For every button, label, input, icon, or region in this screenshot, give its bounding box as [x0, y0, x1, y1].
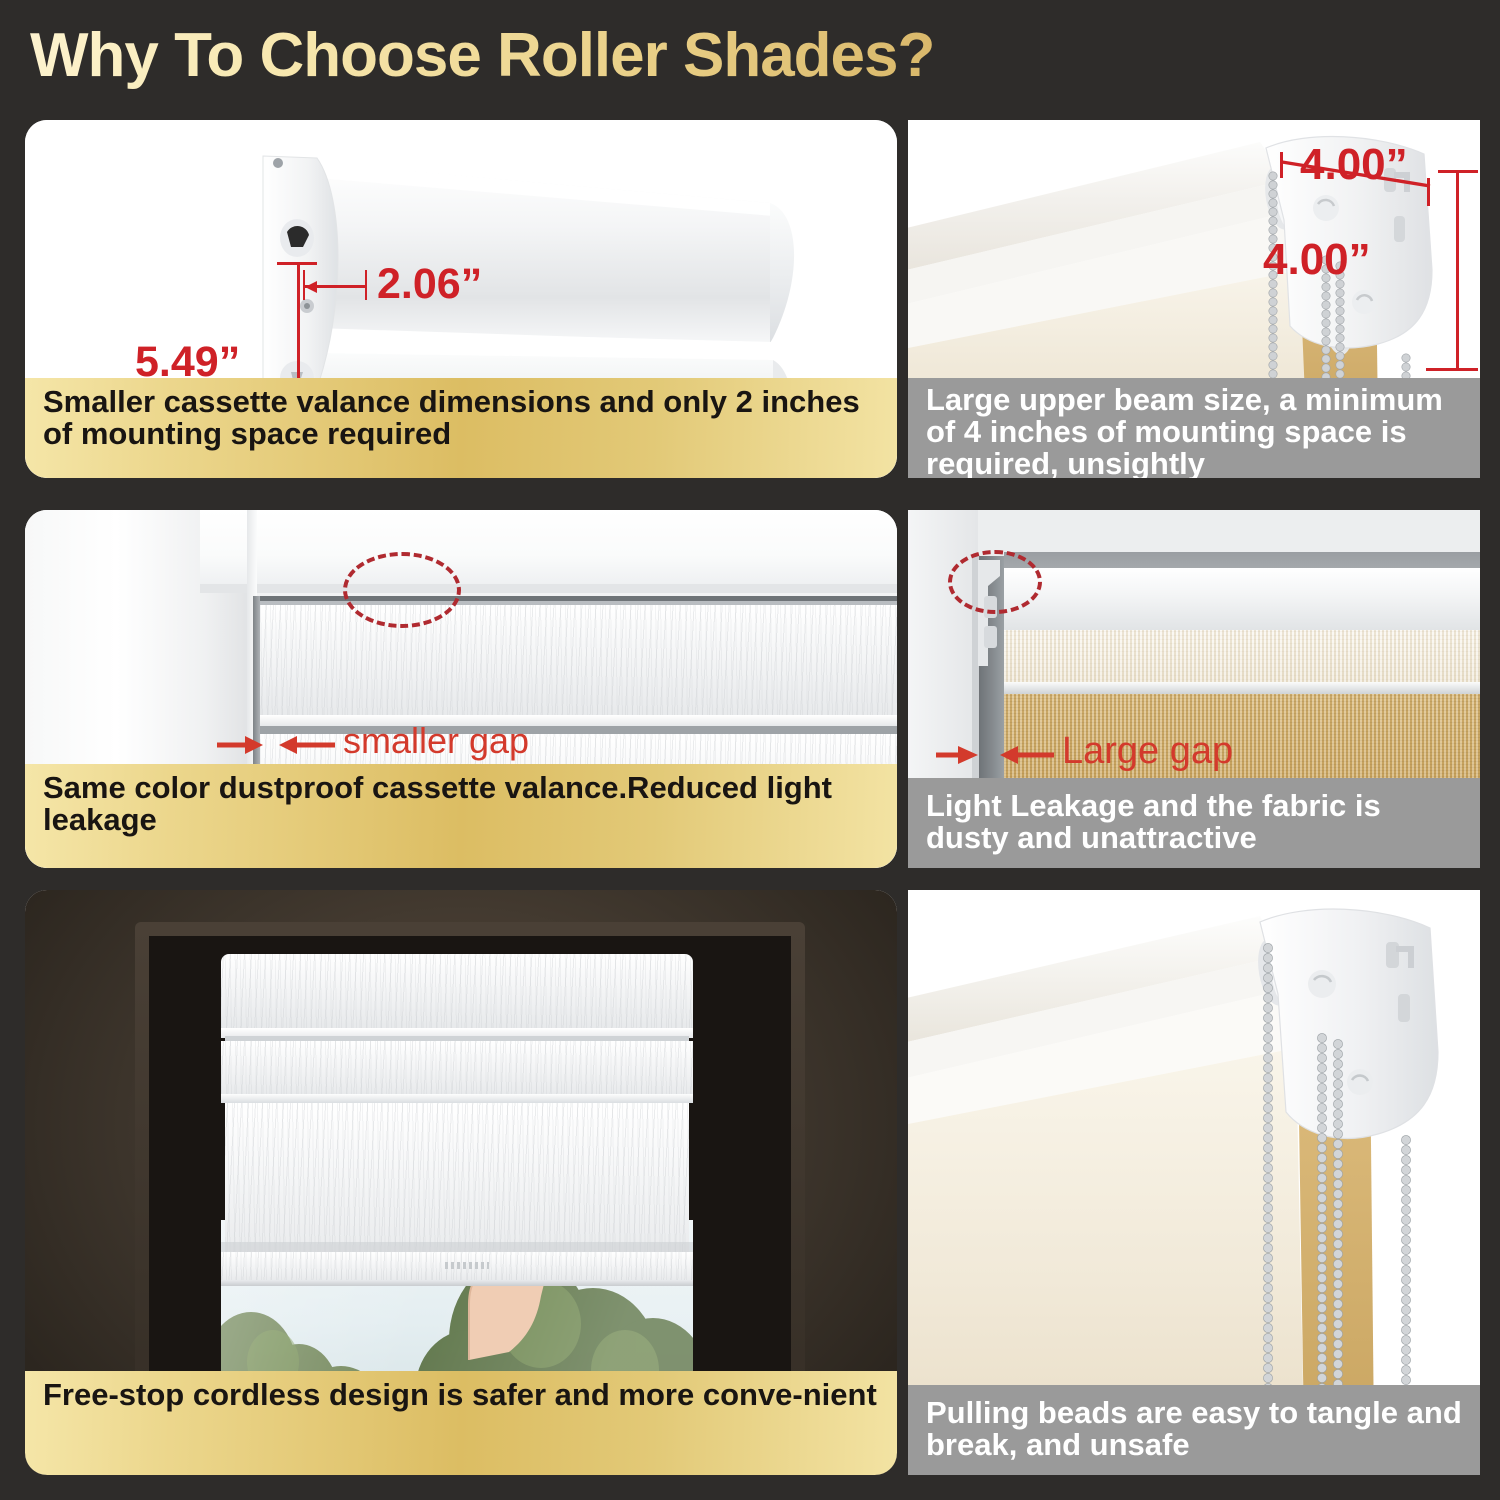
panel-good-cassette-dimensions: 2.06” 5.49” Smaller cassette valance dim… [25, 120, 897, 478]
panel-bad-light-leakage: Large gap Light Leakage and the fabric i… [908, 510, 1480, 868]
dim-400-v-tick-top [1438, 170, 1478, 173]
panel-bad-upper-beam-size: 4.00” 4.00” Large upper beam size, a min… [908, 120, 1480, 478]
highlight-ellipse-gap [948, 550, 1042, 614]
brand-mark [445, 1262, 489, 1269]
caption-good-dustproof-valance: Same color dustproof cassette valance.Re… [25, 764, 897, 868]
headrail-tube [1004, 568, 1480, 634]
page-title: Why To Choose Roller Shades? [30, 16, 1230, 96]
cassette-valance [221, 954, 693, 1032]
caption-bad-light-leakage: Light Leakage and the fabric is dusty an… [908, 778, 1480, 868]
panel-bad-pulling-beads: Pulling beads are easy to tangle and bre… [908, 890, 1480, 1475]
cream-fabric-band [1004, 630, 1480, 684]
gap-label-large: Large gap [1062, 730, 1233, 773]
caption-bad-pulling-beads: Pulling beads are easy to tangle and bre… [908, 1385, 1480, 1475]
caption-good-cassette-dimensions: Smaller cassette valance dimensions and … [25, 378, 897, 478]
window-casing-top [200, 510, 897, 592]
dim-400-vertical-label: 4.00” [1263, 235, 1371, 285]
dim-400-v-line [1456, 170, 1459, 370]
dim-400-horizontal-label: 4.00” [1300, 140, 1408, 190]
panel-good-cordless-design: Free-stop cordless design is safer and m… [25, 890, 897, 1475]
dim-549-tick-top [277, 262, 317, 265]
dim-206-label: 2.06” [377, 260, 482, 309]
dim-400-v-tick-bottom [1426, 368, 1478, 371]
caption-bad-upper-beam-size: Large upper beam size, a minimum of 4 in… [908, 378, 1480, 478]
gap-label-smaller: smaller gap [343, 720, 529, 762]
panel-good-dustproof-valance: smaller gap Same color dustproof cassett… [25, 510, 897, 868]
highlight-ellipse [343, 552, 461, 628]
valance-second-band [221, 1041, 693, 1099]
caption-good-cordless-design: Free-stop cordless design is safer and m… [25, 1371, 897, 1475]
cassette-valance-band [257, 605, 897, 723]
